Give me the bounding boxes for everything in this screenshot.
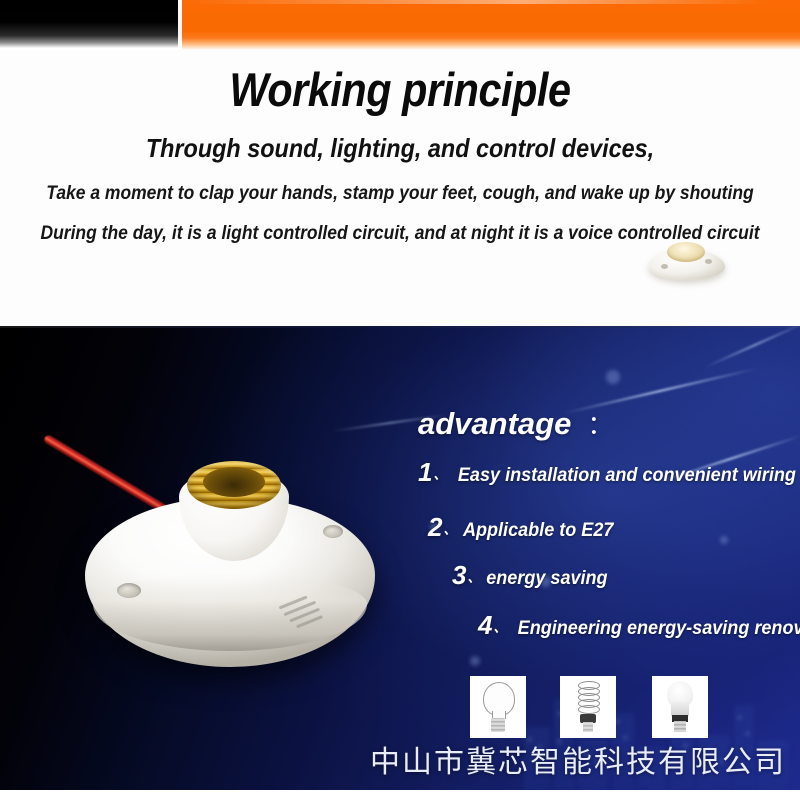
- led-bulb-thumbnail: [652, 676, 708, 738]
- advantage-item-3-separator: 、: [467, 570, 480, 585]
- bokeh-light: [606, 370, 620, 384]
- incandescent-bulb-thumbnail: [470, 676, 526, 738]
- advantage-item-1-number: 1: [418, 457, 432, 487]
- advantage-heading-colon: ：: [587, 410, 613, 440]
- banner-black-block: [0, 0, 178, 48]
- advantage-item-3-number: 3: [452, 560, 466, 590]
- advantage-item-2-separator: 、: [443, 522, 456, 537]
- light-streak: [704, 326, 800, 368]
- advantage-item-4-number: 4: [478, 610, 492, 640]
- night-section-top-edge: [0, 326, 800, 328]
- small-photo-screw-hole: [705, 259, 712, 264]
- lamp-holder-small-photo: [645, 240, 729, 288]
- header-description-line-1: Take a moment to clap your hands, stamp …: [32, 183, 768, 205]
- incandescent-bulb-cap: [491, 718, 505, 732]
- advantage-item-1: 1、Easy installation and convenient wirin…: [418, 457, 800, 488]
- advantage-item-4-separator: 、: [493, 620, 506, 635]
- advantage-item-4: 4、Engineering energy-saving renovation: [478, 610, 800, 641]
- bokeh-light: [720, 536, 728, 544]
- bulb-thumbnail-strip: [470, 676, 710, 738]
- bokeh-light: [470, 656, 480, 666]
- mounting-screw-hole: [117, 583, 141, 598]
- mounting-screw-hole: [323, 525, 343, 538]
- cfl-bulb-cap: [583, 722, 593, 732]
- advantage-item-3: 3、energy saving: [452, 560, 611, 591]
- cfl-spiral-tube: [578, 681, 598, 715]
- advantage-item-1-text: Easy installation and convenient wiring: [458, 465, 796, 487]
- small-photo-socket-ring: [667, 242, 705, 262]
- product-marketing-image: Working principle Through sound, lightin…: [0, 0, 800, 800]
- advantage-item-3-text: energy saving: [487, 568, 608, 590]
- header-subtitle: Through sound, lighting, and control dev…: [40, 133, 760, 164]
- led-bulb-cap: [674, 721, 686, 732]
- cfl-spiral-bulb-thumbnail: [560, 676, 616, 738]
- company-name: 中山市冀芯智能科技有限公司: [370, 737, 786, 781]
- advantage-heading: advantage：: [418, 405, 613, 442]
- banner-orange-block: [182, 0, 800, 50]
- advantage-heading-label: advantage: [418, 406, 571, 441]
- socket-inner-cavity: [203, 467, 265, 497]
- small-photo-screw-hole: [661, 264, 668, 269]
- advantage-item-2-number: 2: [428, 512, 442, 542]
- advantage-item-2: 2、Applicable to E27: [428, 512, 618, 543]
- advantage-item-1-separator: 、: [433, 467, 446, 482]
- lamp-holder-main-photo: [85, 455, 375, 685]
- page-title: Working principle: [48, 62, 752, 117]
- advantage-item-4-text: Engineering energy-saving renovation: [518, 618, 800, 640]
- led-bulb-body: [671, 702, 689, 716]
- bottom-white-strip: [0, 790, 800, 800]
- advantage-item-2-text: Applicable to E27: [463, 520, 613, 542]
